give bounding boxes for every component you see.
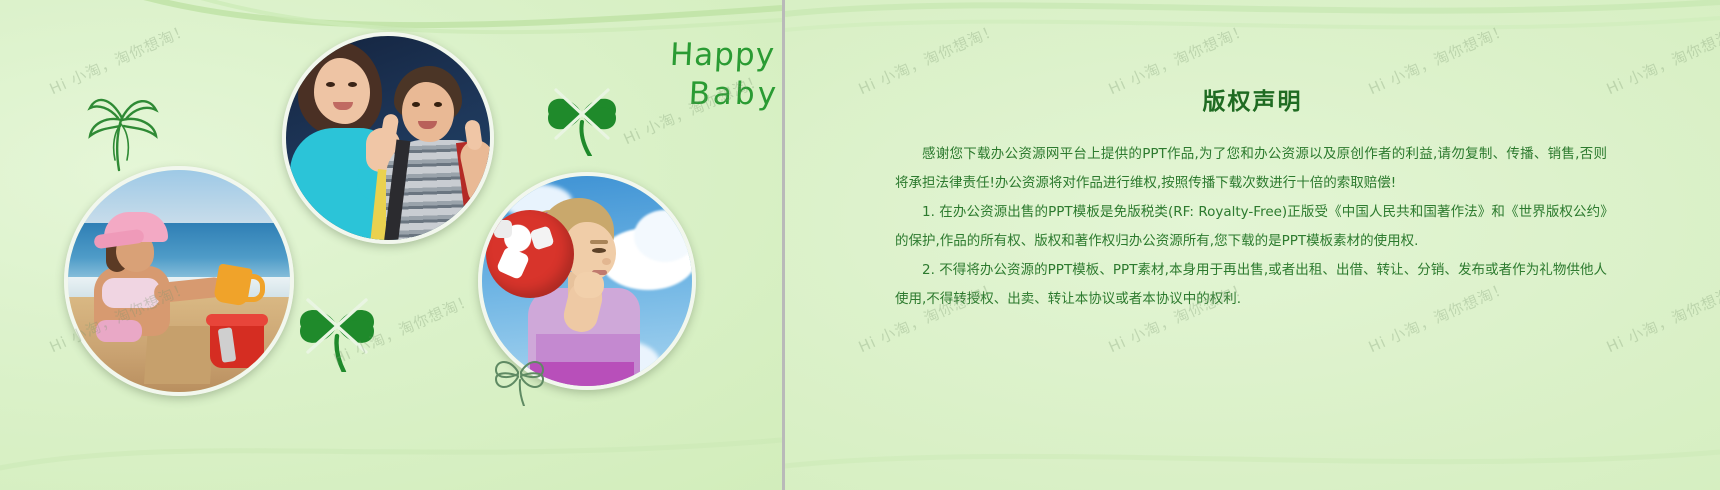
copyright-paragraph: 感谢您下载办公资源网平台上提供的PPT作品,为了您和办公资源以及原创作者的利益,… xyxy=(895,140,1607,198)
page-title: 版权声明 xyxy=(785,82,1720,116)
copyright-body: 感谢您下载办公资源网平台上提供的PPT作品,为了您和办公资源以及原创作者的利益,… xyxy=(895,140,1607,314)
slide-deck: Happy Baby xyxy=(0,0,1720,490)
clover-outline-icon xyxy=(488,346,550,406)
photo-girl-on-beach xyxy=(64,166,294,396)
happy-baby-title: Happy Baby xyxy=(600,40,775,125)
clover-outline-icon xyxy=(76,84,168,174)
slide-right-copyright: 版权声明 感谢您下载办公资源网平台上提供的PPT作品,为了您和办公资源以及原创作… xyxy=(785,0,1720,490)
copyright-paragraph: 1. 在办公资源出售的PPT模板是免版税类(RF: Royalty-Free)正… xyxy=(895,198,1607,256)
slide-left-cover: Happy Baby xyxy=(0,0,782,490)
happy-baby-line2: Baby xyxy=(599,79,780,110)
four-leaf-clover-icon xyxy=(292,282,382,372)
happy-baby-line1: Happy xyxy=(599,40,776,71)
copyright-paragraph: 2. 不得将办公资源的PPT模板、PPT素材,本身用于再出售,或者出租、出借、转… xyxy=(895,256,1607,314)
photo-teens-thumbs-up xyxy=(282,32,494,244)
four-leaf-clover-icon xyxy=(540,72,624,156)
